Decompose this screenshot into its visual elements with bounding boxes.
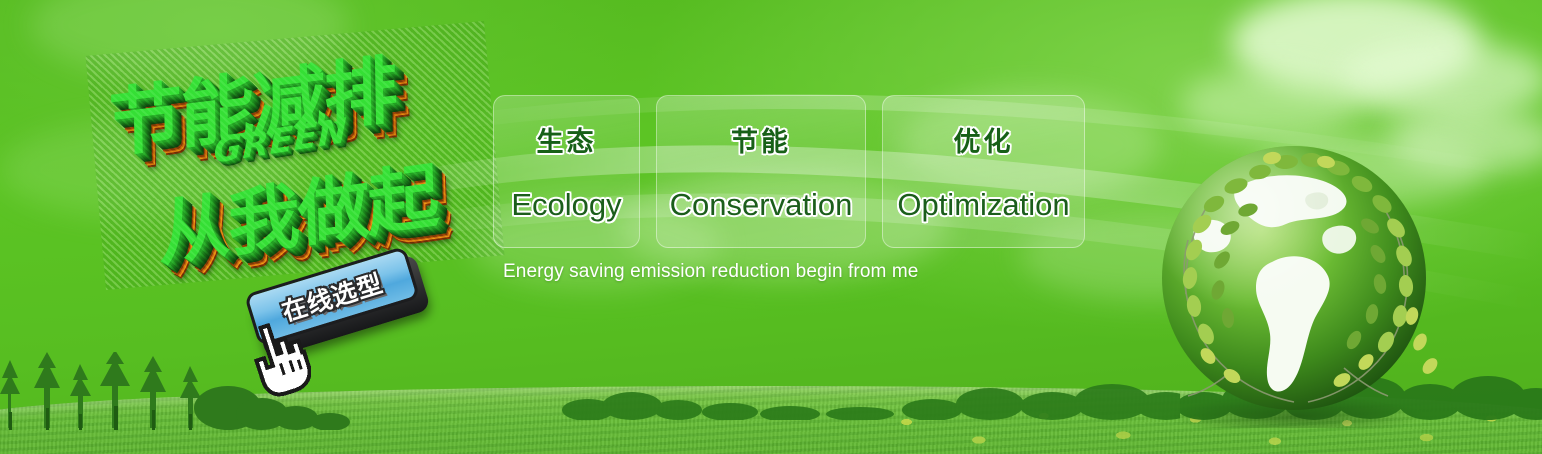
banner-tagline: Energy saving emission reduction begin f… bbox=[503, 261, 918, 283]
feature-card-en-label: Ecology bbox=[511, 187, 621, 223]
feature-card-conservation[interactable]: 节能 Conservation bbox=[656, 95, 866, 248]
page-title: 节能减排 GREEN 从我做起 bbox=[86, 21, 505, 290]
feature-card-optimization[interactable]: 优化 Optimization bbox=[882, 95, 1085, 248]
feature-card-cn-label: 节能 bbox=[731, 120, 791, 159]
feature-card-en-label: Optimization bbox=[897, 187, 1069, 223]
hand-pointer-icon bbox=[245, 320, 311, 398]
cloud-icon bbox=[1230, 0, 1480, 95]
ivy-covered-globe-icon bbox=[1144, 128, 1444, 428]
cloud-icon bbox=[1340, 40, 1542, 120]
feature-card-ecology[interactable]: 生态 Ecology bbox=[493, 95, 640, 248]
feature-card-cn-label: 生态 bbox=[537, 120, 597, 159]
feature-card-list: 生态 Ecology 节能 Conservation 优化 Optimizati… bbox=[493, 95, 1085, 248]
feature-card-en-label: Conservation bbox=[670, 187, 853, 223]
feature-card-cn-label: 优化 bbox=[954, 120, 1014, 159]
eco-hero-banner: 节能减排 GREEN 从我做起 在线选型 生态 Ecology 节能 Conse… bbox=[0, 0, 1542, 454]
